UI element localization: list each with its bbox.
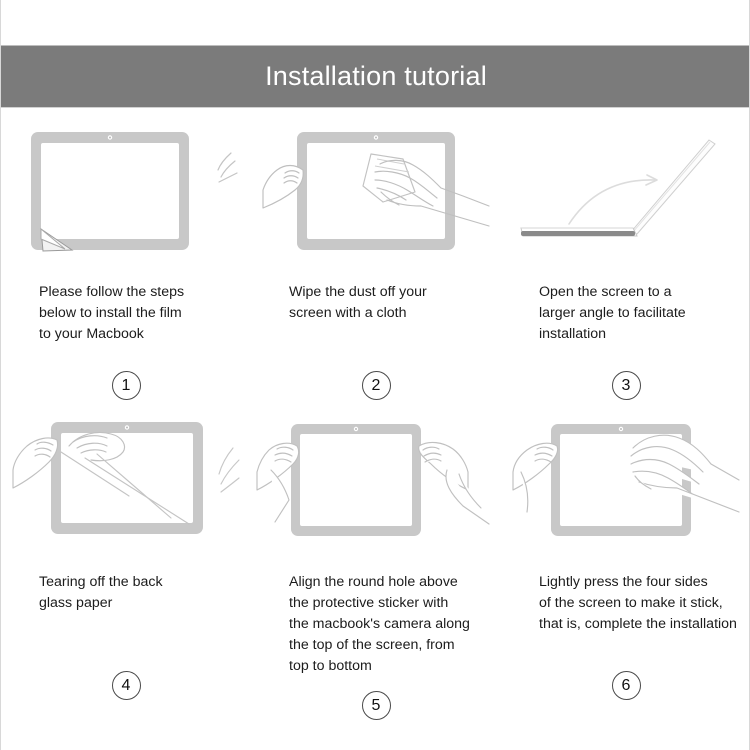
- tutorial-step-5: Align the round hole above the protectiv…: [251, 400, 501, 700]
- hands-pressing-film-edges-icon: [513, 418, 739, 558]
- step-3-badge-wrap: 3: [513, 357, 739, 400]
- step-1-badge-wrap: 1: [13, 357, 239, 400]
- macbook-screen-with-peeling-film-corner-icon: [13, 128, 239, 268]
- step-number-badge: 2: [362, 371, 391, 400]
- step-6-badge-wrap: 6: [513, 657, 739, 700]
- step-1-description: Please follow the steps below to install…: [39, 282, 239, 345]
- step-number-badge: 1: [112, 371, 141, 400]
- step-number-badge: 4: [112, 671, 141, 700]
- laptop-opening-side-view-with-arrow-icon: [513, 128, 739, 268]
- step-4-badge-wrap: 4: [13, 657, 239, 700]
- step-3-description: Open the screen to a larger angle to fac…: [539, 282, 739, 345]
- tutorial-step-1: Please follow the steps below to install…: [1, 128, 251, 400]
- hands-tearing-back-glass-paper-icon: [13, 418, 239, 558]
- step-5-description: Align the round hole above the protectiv…: [289, 572, 489, 677]
- step-number-badge: 5: [362, 691, 391, 720]
- step-number-badge: 3: [612, 371, 641, 400]
- step-5-illustration: [263, 418, 489, 558]
- tutorial-step-6: Lightly press the four sides of the scre…: [501, 400, 750, 700]
- two-hands-aligning-film-on-screen-icon: [263, 418, 489, 558]
- step-5-badge-wrap: 5: [263, 677, 489, 720]
- step-6-description: Lightly press the four sides of the scre…: [539, 572, 739, 635]
- tutorial-step-2: Wipe the dust off your screen with a clo…: [251, 128, 501, 400]
- page-title: Installation tutorial: [265, 61, 487, 92]
- installation-tutorial-page: Installation tutorial: [0, 0, 750, 750]
- step-2-description: Wipe the dust off your screen with a clo…: [289, 282, 489, 324]
- step-number-badge: 6: [612, 671, 641, 700]
- hand-wiping-screen-with-cloth-icon: [263, 128, 489, 268]
- step-1-illustration: [13, 128, 239, 268]
- tutorial-steps-grid: Please follow the steps below to install…: [1, 128, 750, 700]
- tutorial-step-3: Open the screen to a larger angle to fac…: [501, 128, 750, 400]
- step-6-illustration: [513, 418, 739, 558]
- page-header-banner: Installation tutorial: [1, 45, 750, 108]
- step-4-description: Tearing off the back glass paper: [39, 572, 239, 614]
- step-2-badge-wrap: 2: [263, 357, 489, 400]
- tutorial-step-4: Tearing off the back glass paper 4: [1, 400, 251, 700]
- step-3-illustration: [513, 128, 739, 268]
- step-4-illustration: [13, 418, 239, 558]
- step-2-illustration: [263, 128, 489, 268]
